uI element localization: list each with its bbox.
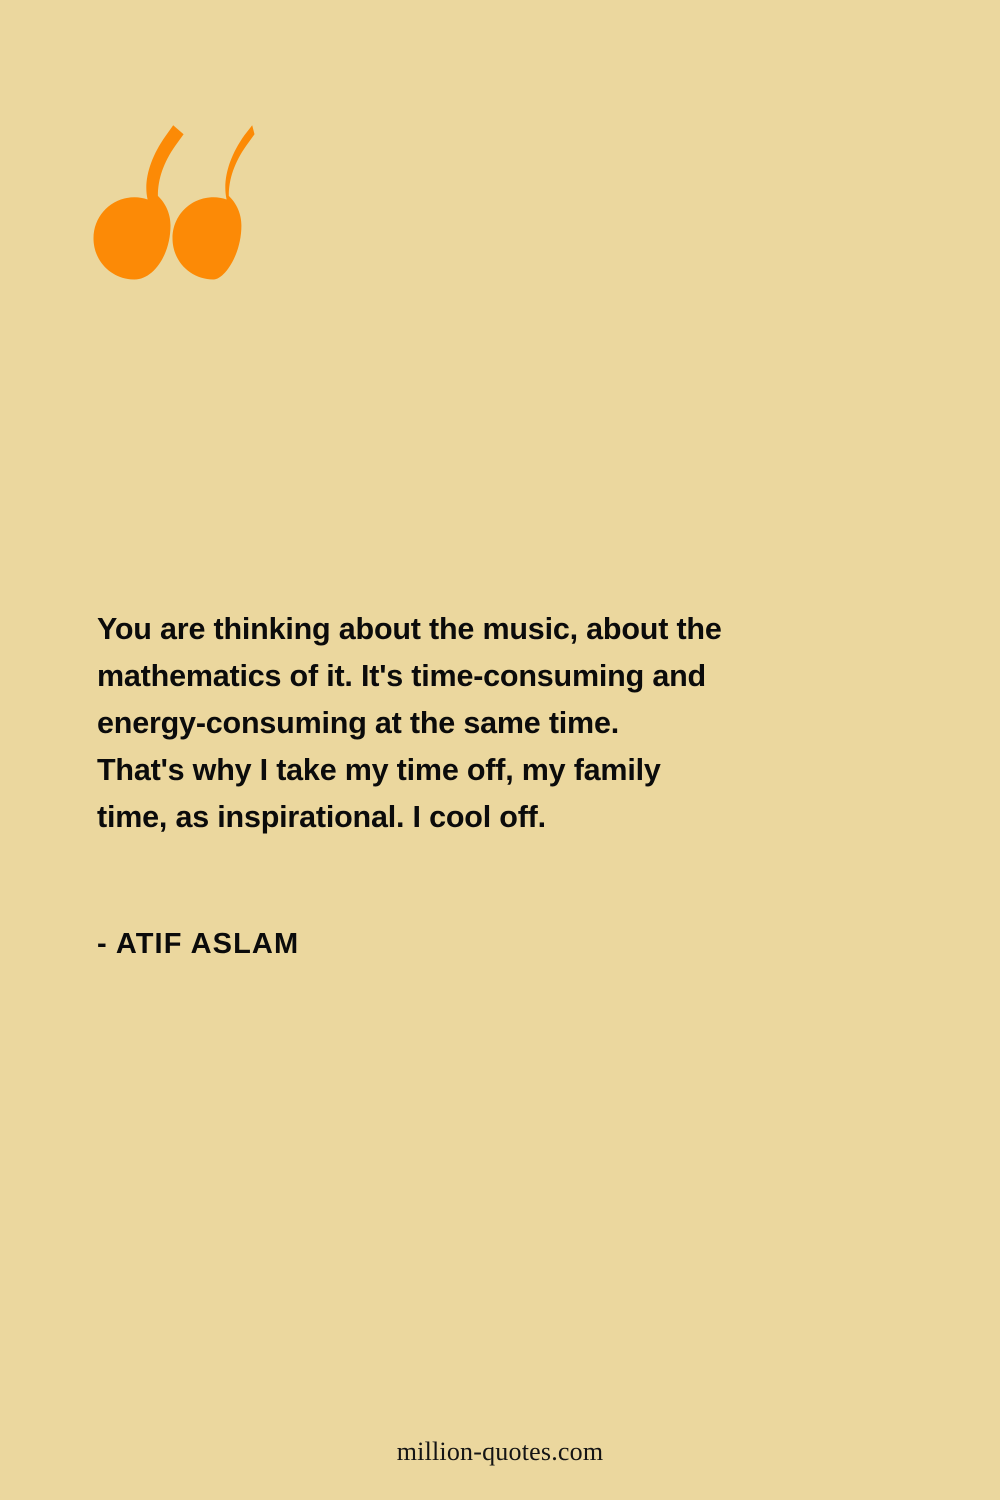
quote-poster: You are thinking about the music, about … [0, 0, 1000, 1500]
site-footer: million-quotes.com [0, 1437, 1000, 1467]
open-quote-icon [93, 122, 255, 280]
quote-body: You are thinking about the music, about … [97, 606, 837, 841]
quote-attribution: - ATIF ASLAM [97, 928, 299, 961]
